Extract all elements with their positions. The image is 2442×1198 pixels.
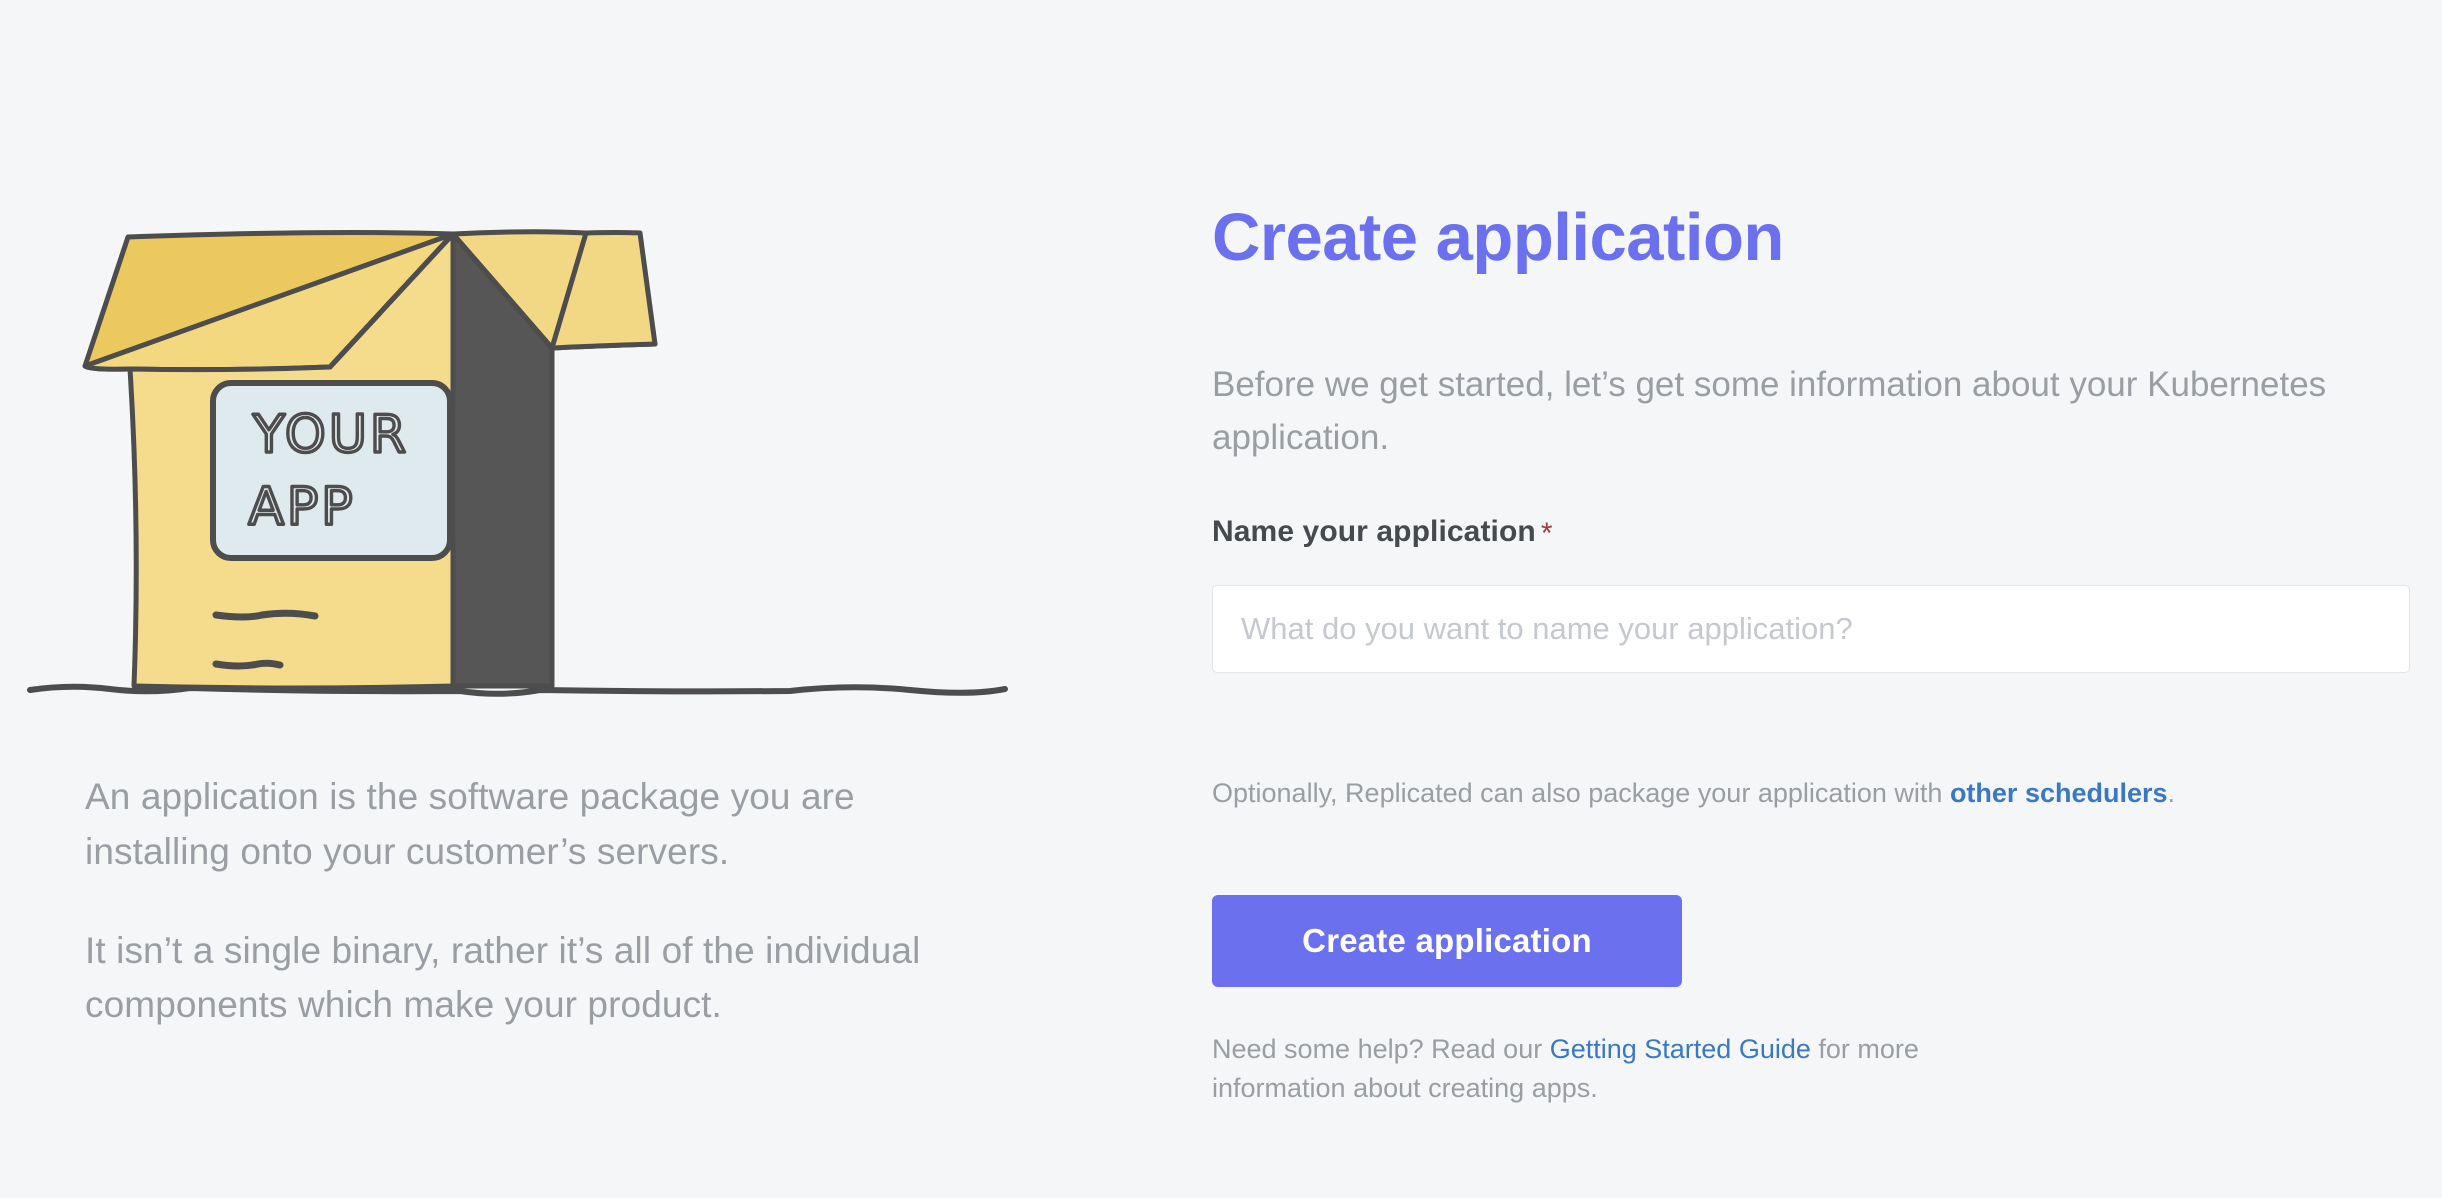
your-app-label-line1: YOUR — [252, 405, 409, 465]
help-text-prefix: Need some help? Read our — [1212, 1034, 1550, 1064]
box-dash-line-1 — [216, 613, 315, 617]
box-dash-line-2 — [216, 663, 280, 666]
name-field-label: Name your application* — [1212, 515, 1553, 549]
your-app-label-line2: APP — [248, 477, 355, 537]
required-asterisk: * — [1541, 517, 1553, 550]
cardboard-box-illustration: YOUR APP — [30, 170, 1040, 730]
description-block: An application is the software package y… — [85, 770, 985, 1033]
other-schedulers-note-prefix: Optionally, Replicated can also package … — [1212, 778, 1950, 808]
description-paragraph-2: It isn’t a single binary, rather it’s al… — [85, 924, 985, 1034]
getting-started-guide-link[interactable]: Getting Started Guide — [1550, 1034, 1811, 1064]
page-title: Create application — [1212, 203, 1784, 273]
other-schedulers-link[interactable]: other schedulers — [1950, 778, 2168, 808]
left-column: YOUR APP An application is the software … — [0, 0, 1090, 1198]
create-application-form: Create application Before we get started… — [1212, 0, 2412, 1198]
other-schedulers-note-suffix: . — [2168, 778, 2176, 808]
help-text: Need some help? Read our Getting Started… — [1212, 1030, 1972, 1108]
cardboard-box-icon: YOUR APP — [30, 170, 1040, 730]
intro-text: Before we get started, let’s get some in… — [1212, 358, 2347, 464]
description-paragraph-1: An application is the software package y… — [85, 770, 985, 880]
create-application-button[interactable]: Create application — [1212, 895, 1682, 987]
name-field-label-text: Name your application — [1212, 515, 1536, 548]
create-application-page: YOUR APP An application is the software … — [0, 0, 2442, 1198]
other-schedulers-note: Optionally, Replicated can also package … — [1212, 778, 2175, 809]
application-name-input[interactable] — [1212, 585, 2410, 673]
